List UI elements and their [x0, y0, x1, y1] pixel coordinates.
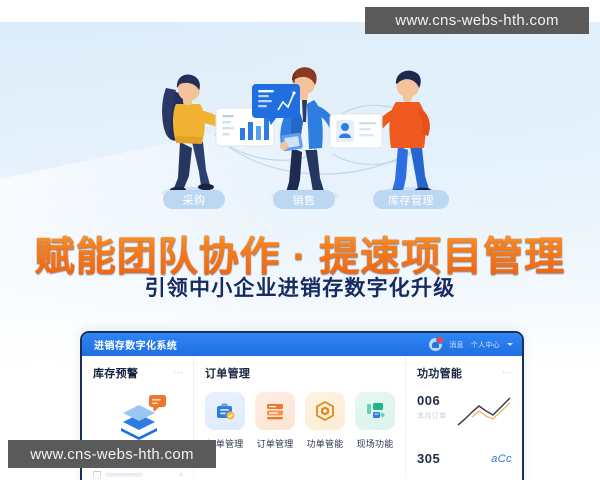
user-profile-card [330, 114, 382, 148]
tile-field-feature[interactable]: 现场功能 [355, 392, 395, 450]
list-icon [255, 392, 295, 430]
subtitle: 引领中小企业进销存数字化升级 [0, 272, 600, 302]
tile-label: 功单管能 [305, 437, 345, 450]
orders-panel-title: 订单管理 [205, 365, 250, 381]
role-pill-label: 销售 [293, 192, 316, 208]
role-pill-sales: 销售 [273, 190, 335, 209]
bell-icon[interactable] [429, 338, 442, 351]
monitor-icon [355, 392, 395, 430]
poster-canvas: 采购 销售 库存管理 赋能团队协作 · 提速项目管理 引领中小企业进销存数字化升… [0, 0, 600, 480]
inventory-panel-title: 库存预警 [93, 365, 138, 381]
tile-order-management-2[interactable]: 订单管理 [255, 392, 295, 450]
briefcase-icon [205, 392, 245, 430]
dashboard-titlebar: 进销存数字化系统 消息 个人中心 [82, 333, 522, 356]
chevron-down-icon[interactable] [507, 343, 513, 346]
hexagon-shield-icon [305, 392, 345, 430]
topbar-label-2[interactable]: 个人中心 [471, 340, 500, 350]
tile-label: 订单管理 [255, 437, 295, 450]
orders-panel: 订单管理 [194, 356, 406, 480]
more-icon[interactable]: ··· [173, 370, 183, 376]
orders-tile-grid: 订单管理 订单管理 [205, 392, 395, 450]
stats-panel-head: 功功管能 ··· [417, 365, 512, 381]
notification-badge [436, 336, 444, 344]
dashboard-bottom-fade [82, 470, 522, 480]
kpi-secondary: 305 aCc [417, 451, 512, 466]
role-pill-label: 库存管理 [388, 192, 434, 208]
dashboard-title: 进销存数字化系统 [94, 337, 177, 352]
kpi-value: 006 [417, 393, 447, 408]
watermark-bottom: www.cns-webs-hth.com [8, 440, 216, 468]
stats-panel: 功功管能 ··· 006 本月订单 30 [406, 356, 522, 480]
trend-line-chart [456, 395, 512, 434]
kpi-link[interactable]: aCc [491, 453, 512, 465]
tile-label: 现场功能 [355, 437, 395, 450]
topbar-label-1[interactable]: 消息 [449, 340, 464, 350]
inventory-panel-head: 库存预警 ··· [93, 365, 183, 381]
dashboard-titlebar-actions: 消息 个人中心 [429, 338, 513, 351]
role-pill-inventory: 库存管理 [373, 190, 449, 209]
role-pill-purchasing: 采购 [163, 190, 225, 209]
tile-feature-shield[interactable]: 功单管能 [305, 392, 345, 450]
role-pill-label: 采购 [183, 192, 206, 208]
inventory-box-icon [93, 387, 183, 443]
kpi-caption: 本月订单 [417, 411, 447, 421]
more-icon[interactable]: ··· [502, 370, 512, 376]
kpi-value: 305 [417, 451, 440, 466]
kpi-primary: 006 本月订单 [417, 393, 512, 434]
stats-panel-title: 功功管能 [417, 365, 462, 381]
watermark-top: www.cns-webs-hth.com [365, 7, 589, 34]
hero-illustration [0, 30, 600, 210]
orders-panel-head: 订单管理 [205, 365, 395, 381]
